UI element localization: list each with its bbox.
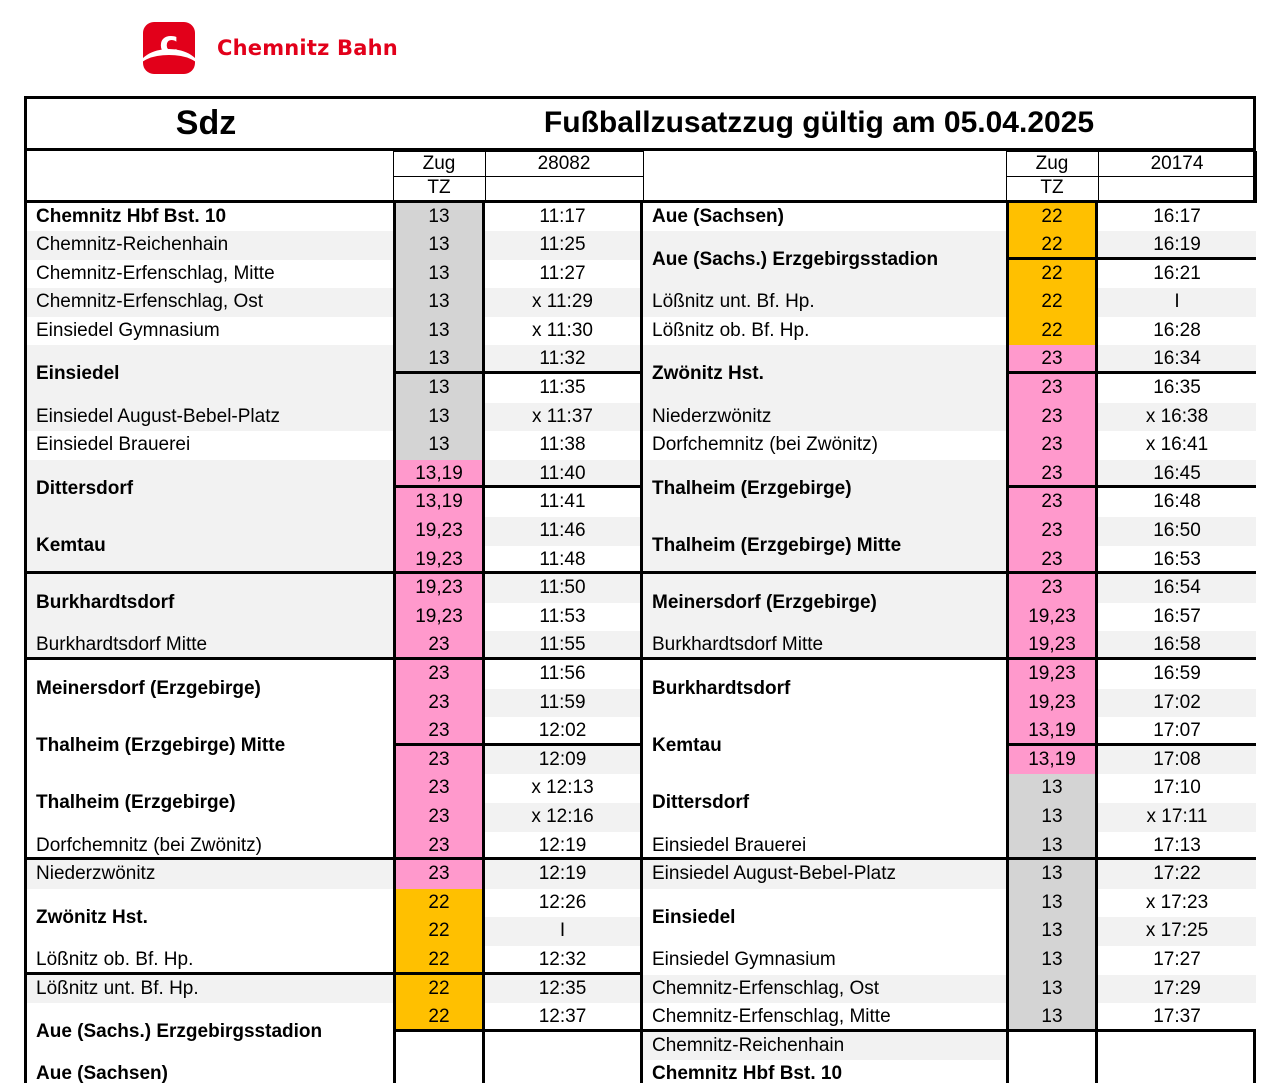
column-header-table: Zug 28082 Zug 20174 TZ TZ <box>27 151 1257 203</box>
time-cell: 11:35 <box>485 374 640 403</box>
tz-cell: 23 <box>396 660 482 689</box>
left-station-name-column: Chemnitz Hbf Bst. 10Chemnitz-Reichenhain… <box>27 203 393 1083</box>
station-name-cell: Chemnitz-Erfenschlag, Ost <box>643 975 1006 1004</box>
timetable-body: Chemnitz Hbf Bst. 10Chemnitz-Reichenhain… <box>27 203 1253 1083</box>
station-name-cell: Thalheim (Erzgebirge) <box>27 774 393 831</box>
tz-cell: 23 <box>1009 403 1095 432</box>
time-cell: 11:27 <box>485 260 640 289</box>
time-cell: 11:17 <box>485 203 640 232</box>
tz-cell: 19,23 <box>1009 689 1095 718</box>
header-right-zug-label: Zug <box>1006 151 1098 176</box>
tz-cell: 22 <box>1009 260 1095 289</box>
tz-cell: 23 <box>1009 488 1095 517</box>
time-cell: 12:19 <box>485 832 640 861</box>
station-name-cell: Dorfchemnitz (bei Zwönitz) <box>27 832 393 861</box>
tz-cell: 23 <box>1009 574 1095 603</box>
time-cell: 16:48 <box>1098 488 1256 517</box>
tz-cell: 22 <box>396 889 482 918</box>
station-name-cell: Chemnitz-Reichenhain <box>643 1032 1006 1061</box>
tz-cell: 19,23 <box>396 574 482 603</box>
tz-cell: 19,23 <box>396 546 482 575</box>
time-cell: 11:32 <box>485 345 640 374</box>
station-name-cell: Burkhardtsdorf <box>643 660 1006 717</box>
station-name-cell: Chemnitz Hbf Bst. 10 <box>643 1060 1006 1083</box>
tz-cell: 13 <box>396 431 482 460</box>
tz-cell: 23 <box>1009 431 1095 460</box>
station-name-cell: Einsiedel Brauerei <box>27 431 393 460</box>
time-cell: I <box>485 917 640 946</box>
station-name-cell: Dittersdorf <box>643 774 1006 831</box>
tz-cell: 13,19 <box>396 488 482 517</box>
tz-cell: 23 <box>1009 345 1095 374</box>
tz-cell: 22 <box>396 917 482 946</box>
tz-cell: 13 <box>1009 917 1095 946</box>
time-cell: 17:08 <box>1098 746 1256 775</box>
station-name-cell: Einsiedel August-Bebel-Platz <box>643 860 1006 889</box>
header-left-tz-value <box>485 176 643 201</box>
tz-cell: 13 <box>1009 774 1095 803</box>
time-cell: 16:50 <box>1098 517 1256 546</box>
tz-cell: 22 <box>1009 231 1095 260</box>
left-time-column: 11:1711:2511:27x 11:29x 11:3011:3211:35x… <box>485 203 640 1083</box>
tz-cell: 13 <box>396 231 482 260</box>
time-cell: 11:59 <box>485 689 640 718</box>
tz-cell: 23 <box>1009 460 1095 489</box>
time-cell: 11:53 <box>485 603 640 632</box>
time-cell: 12:19 <box>485 860 640 889</box>
timetable-sheet: Sdz Fußballzusatzzug gültig am 05.04.202… <box>24 96 1256 1083</box>
time-cell: 17:27 <box>1098 946 1256 975</box>
station-name-cell: Burkhardtsdorf Mitte <box>27 631 393 660</box>
header-left-zug-label: Zug <box>393 151 485 176</box>
station-name-cell: Chemnitz Hbf Bst. 10 <box>27 203 393 232</box>
station-name-cell: Einsiedel <box>27 345 393 402</box>
tz-cell: 22 <box>1009 203 1095 232</box>
time-cell: x 11:37 <box>485 403 640 432</box>
time-cell: x 12:13 <box>485 774 640 803</box>
header-right-tz-value <box>1098 176 1256 201</box>
station-name-cell: Chemnitz-Erfenschlag, Mitte <box>643 1003 1006 1032</box>
tz-cell: 22 <box>396 1003 482 1032</box>
right-direction-table: Aue (Sachsen)Aue (Sachs.) Erzgebirgsstad… <box>643 203 1256 1083</box>
station-name-cell: Aue (Sachs.) Erzgebirgsstadion <box>27 1003 393 1060</box>
tz-cell: 22 <box>396 946 482 975</box>
time-cell: 12:09 <box>485 746 640 775</box>
time-cell: 16:57 <box>1098 603 1256 632</box>
tz-cell: 23 <box>396 689 482 718</box>
time-cell: 11:38 <box>485 431 640 460</box>
station-name-cell: Chemnitz-Erfenschlag, Ost <box>27 288 393 317</box>
header-left-spacer-2 <box>27 176 393 201</box>
left-tz-column: 13131313131313131313,1913,1919,2319,2319… <box>393 203 485 1083</box>
header-left-spacer <box>27 151 393 176</box>
station-name-cell: Meinersdorf (Erzgebirge) <box>27 660 393 717</box>
page-title-sdz: Sdz <box>27 99 385 149</box>
brand-name: Chemnitz Bahn <box>217 36 398 60</box>
tz-cell: 23 <box>1009 546 1095 575</box>
tz-cell: 13 <box>1009 946 1095 975</box>
time-cell: x 12:16 <box>485 803 640 832</box>
station-name-cell: Dorfchemnitz (bei Zwönitz) <box>643 431 1006 460</box>
time-cell: I <box>1098 288 1256 317</box>
station-name-cell: Aue (Sachs.) Erzgebirgsstadion <box>643 231 1006 288</box>
station-name-cell: Einsiedel August-Bebel-Platz <box>27 403 393 432</box>
brand-bar: c Chemnitz Bahn <box>0 0 1280 96</box>
left-direction-table: Chemnitz Hbf Bst. 10Chemnitz-Reichenhain… <box>27 203 643 1083</box>
time-cell: 11:48 <box>485 546 640 575</box>
station-name-cell: Einsiedel Brauerei <box>643 832 1006 861</box>
station-name-cell: Einsiedel Gymnasium <box>27 317 393 346</box>
tz-cell: 13 <box>396 203 482 232</box>
station-name-cell: Thalheim (Erzgebirge) Mitte <box>643 517 1006 574</box>
station-name-cell: Niederzwönitz <box>643 403 1006 432</box>
tz-cell: 19,23 <box>1009 660 1095 689</box>
station-name-cell: Lößnitz unt. Bf. Hp. <box>27 975 393 1004</box>
tz-cell: 13 <box>1009 832 1095 861</box>
tz-cell: 23 <box>396 746 482 775</box>
time-cell: 16:45 <box>1098 460 1256 489</box>
time-cell: x 16:41 <box>1098 431 1256 460</box>
tz-cell: 13 <box>1009 889 1095 918</box>
tz-cell: 22 <box>1009 288 1095 317</box>
time-cell: 11:56 <box>485 660 640 689</box>
tz-cell: 19,23 <box>1009 631 1095 660</box>
time-cell: 17:07 <box>1098 717 1256 746</box>
tz-cell: 13 <box>396 288 482 317</box>
tz-cell: 13 <box>1009 860 1095 889</box>
time-cell: 17:29 <box>1098 975 1256 1004</box>
time-cell: 17:02 <box>1098 689 1256 718</box>
station-name-cell: Meinersdorf (Erzgebirge) <box>643 574 1006 631</box>
station-name-cell: Dittersdorf <box>27 460 393 517</box>
time-cell: 17:10 <box>1098 774 1256 803</box>
station-name-cell: Zwönitz Hst. <box>643 345 1006 402</box>
station-name-cell: Einsiedel Gymnasium <box>643 946 1006 975</box>
tz-cell: 13 <box>396 317 482 346</box>
tz-cell: 13,19 <box>396 460 482 489</box>
tz-cell: 13 <box>396 403 482 432</box>
tz-cell: 13 <box>1009 1003 1095 1032</box>
time-cell: 11:55 <box>485 631 640 660</box>
page-title-main: Fußballzusatzzug gültig am 05.04.2025 <box>385 99 1253 149</box>
tz-cell: 19,23 <box>396 517 482 546</box>
tz-cell: 23 <box>396 832 482 861</box>
tz-cell: 13,19 <box>1009 746 1095 775</box>
time-cell: x 17:25 <box>1098 917 1256 946</box>
time-cell: x 16:38 <box>1098 403 1256 432</box>
tz-cell: 13 <box>396 260 482 289</box>
tz-cell: 19,23 <box>396 603 482 632</box>
time-cell: 16:35 <box>1098 374 1256 403</box>
time-cell: 11:41 <box>485 488 640 517</box>
time-cell: 16:34 <box>1098 345 1256 374</box>
tz-cell: 22 <box>396 975 482 1004</box>
station-name-cell: Lößnitz ob. Bf. Hp. <box>643 317 1006 346</box>
station-name-cell: Kemtau <box>643 717 1006 774</box>
tz-cell: 19,23 <box>1009 603 1095 632</box>
tz-cell: 22 <box>1009 317 1095 346</box>
time-cell: 16:17 <box>1098 203 1256 232</box>
time-cell: 12:32 <box>485 946 640 975</box>
right-time-column: 16:1716:1916:21I16:2816:3416:35x 16:38x … <box>1098 203 1256 1083</box>
time-cell: x 11:29 <box>485 288 640 317</box>
tz-cell: 23 <box>396 631 482 660</box>
tz-cell: 23 <box>396 803 482 832</box>
tz-cell: 23 <box>396 717 482 746</box>
tz-cell: 23 <box>1009 374 1095 403</box>
station-name-cell: Thalheim (Erzgebirge) <box>643 460 1006 517</box>
station-name-cell: Zwönitz Hst. <box>27 889 393 946</box>
time-cell: 11:25 <box>485 231 640 260</box>
time-cell: 16:28 <box>1098 317 1256 346</box>
header-left-tz-label: TZ <box>393 176 485 201</box>
station-name-cell: Lößnitz ob. Bf. Hp. <box>27 946 393 975</box>
time-cell: 16:21 <box>1098 260 1256 289</box>
tz-cell: 23 <box>1009 517 1095 546</box>
header-right-spacer <box>643 151 1006 176</box>
time-cell: 11:50 <box>485 574 640 603</box>
right-station-name-column: Aue (Sachsen)Aue (Sachs.) Erzgebirgsstad… <box>643 203 1006 1083</box>
tz-cell: 13 <box>1009 803 1095 832</box>
time-cell: 16:54 <box>1098 574 1256 603</box>
tz-cell: 23 <box>396 860 482 889</box>
time-cell: 16:59 <box>1098 660 1256 689</box>
station-name-cell: Thalheim (Erzgebirge) Mitte <box>27 717 393 774</box>
time-cell: 17:13 <box>1098 832 1256 861</box>
header-left-train-number: 28082 <box>485 151 643 176</box>
time-cell: 16:58 <box>1098 631 1256 660</box>
station-name-cell: Burkhardtsdorf <box>27 574 393 631</box>
time-cell: 12:35 <box>485 975 640 1004</box>
station-name-cell: Aue (Sachsen) <box>643 203 1006 232</box>
tz-cell: 13 <box>396 374 482 403</box>
tz-cell: 13 <box>396 345 482 374</box>
station-name-cell: Chemnitz-Erfenschlag, Mitte <box>27 260 393 289</box>
header-right-tz-label: TZ <box>1006 176 1098 201</box>
station-name-cell: Aue (Sachsen) <box>27 1060 393 1083</box>
time-cell: 16:53 <box>1098 546 1256 575</box>
chemnitz-c-logo-icon: c <box>143 22 195 74</box>
time-cell: 16:19 <box>1098 231 1256 260</box>
header-right-spacer-2 <box>643 176 1006 201</box>
station-name-cell: Lößnitz unt. Bf. Hp. <box>643 288 1006 317</box>
logo-swoosh-icon <box>143 49 195 69</box>
tz-cell: 13,19 <box>1009 717 1095 746</box>
time-cell: 11:46 <box>485 517 640 546</box>
station-name-cell: Burkhardtsdorf Mitte <box>643 631 1006 660</box>
time-cell: 11:40 <box>485 460 640 489</box>
time-cell: x 17:23 <box>1098 889 1256 918</box>
tz-cell: 13 <box>1009 975 1095 1004</box>
station-name-cell: Einsiedel <box>643 889 1006 946</box>
time-cell: 12:26 <box>485 889 640 918</box>
tz-cell: 23 <box>396 774 482 803</box>
header-right-train-number: 20174 <box>1098 151 1256 176</box>
time-cell: 12:02 <box>485 717 640 746</box>
time-cell: x 11:30 <box>485 317 640 346</box>
time-cell: 17:22 <box>1098 860 1256 889</box>
time-cell: x 17:11 <box>1098 803 1256 832</box>
time-cell: 17:37 <box>1098 1003 1256 1032</box>
time-cell: 12:37 <box>485 1003 640 1032</box>
station-name-cell: Kemtau <box>27 517 393 574</box>
right-tz-column: 222222222223232323232323232319,2319,2319… <box>1006 203 1098 1083</box>
station-name-cell: Niederzwönitz <box>27 860 393 889</box>
title-table: Sdz Fußballzusatzzug gültig am 05.04.202… <box>27 99 1253 151</box>
station-name-cell: Chemnitz-Reichenhain <box>27 231 393 260</box>
